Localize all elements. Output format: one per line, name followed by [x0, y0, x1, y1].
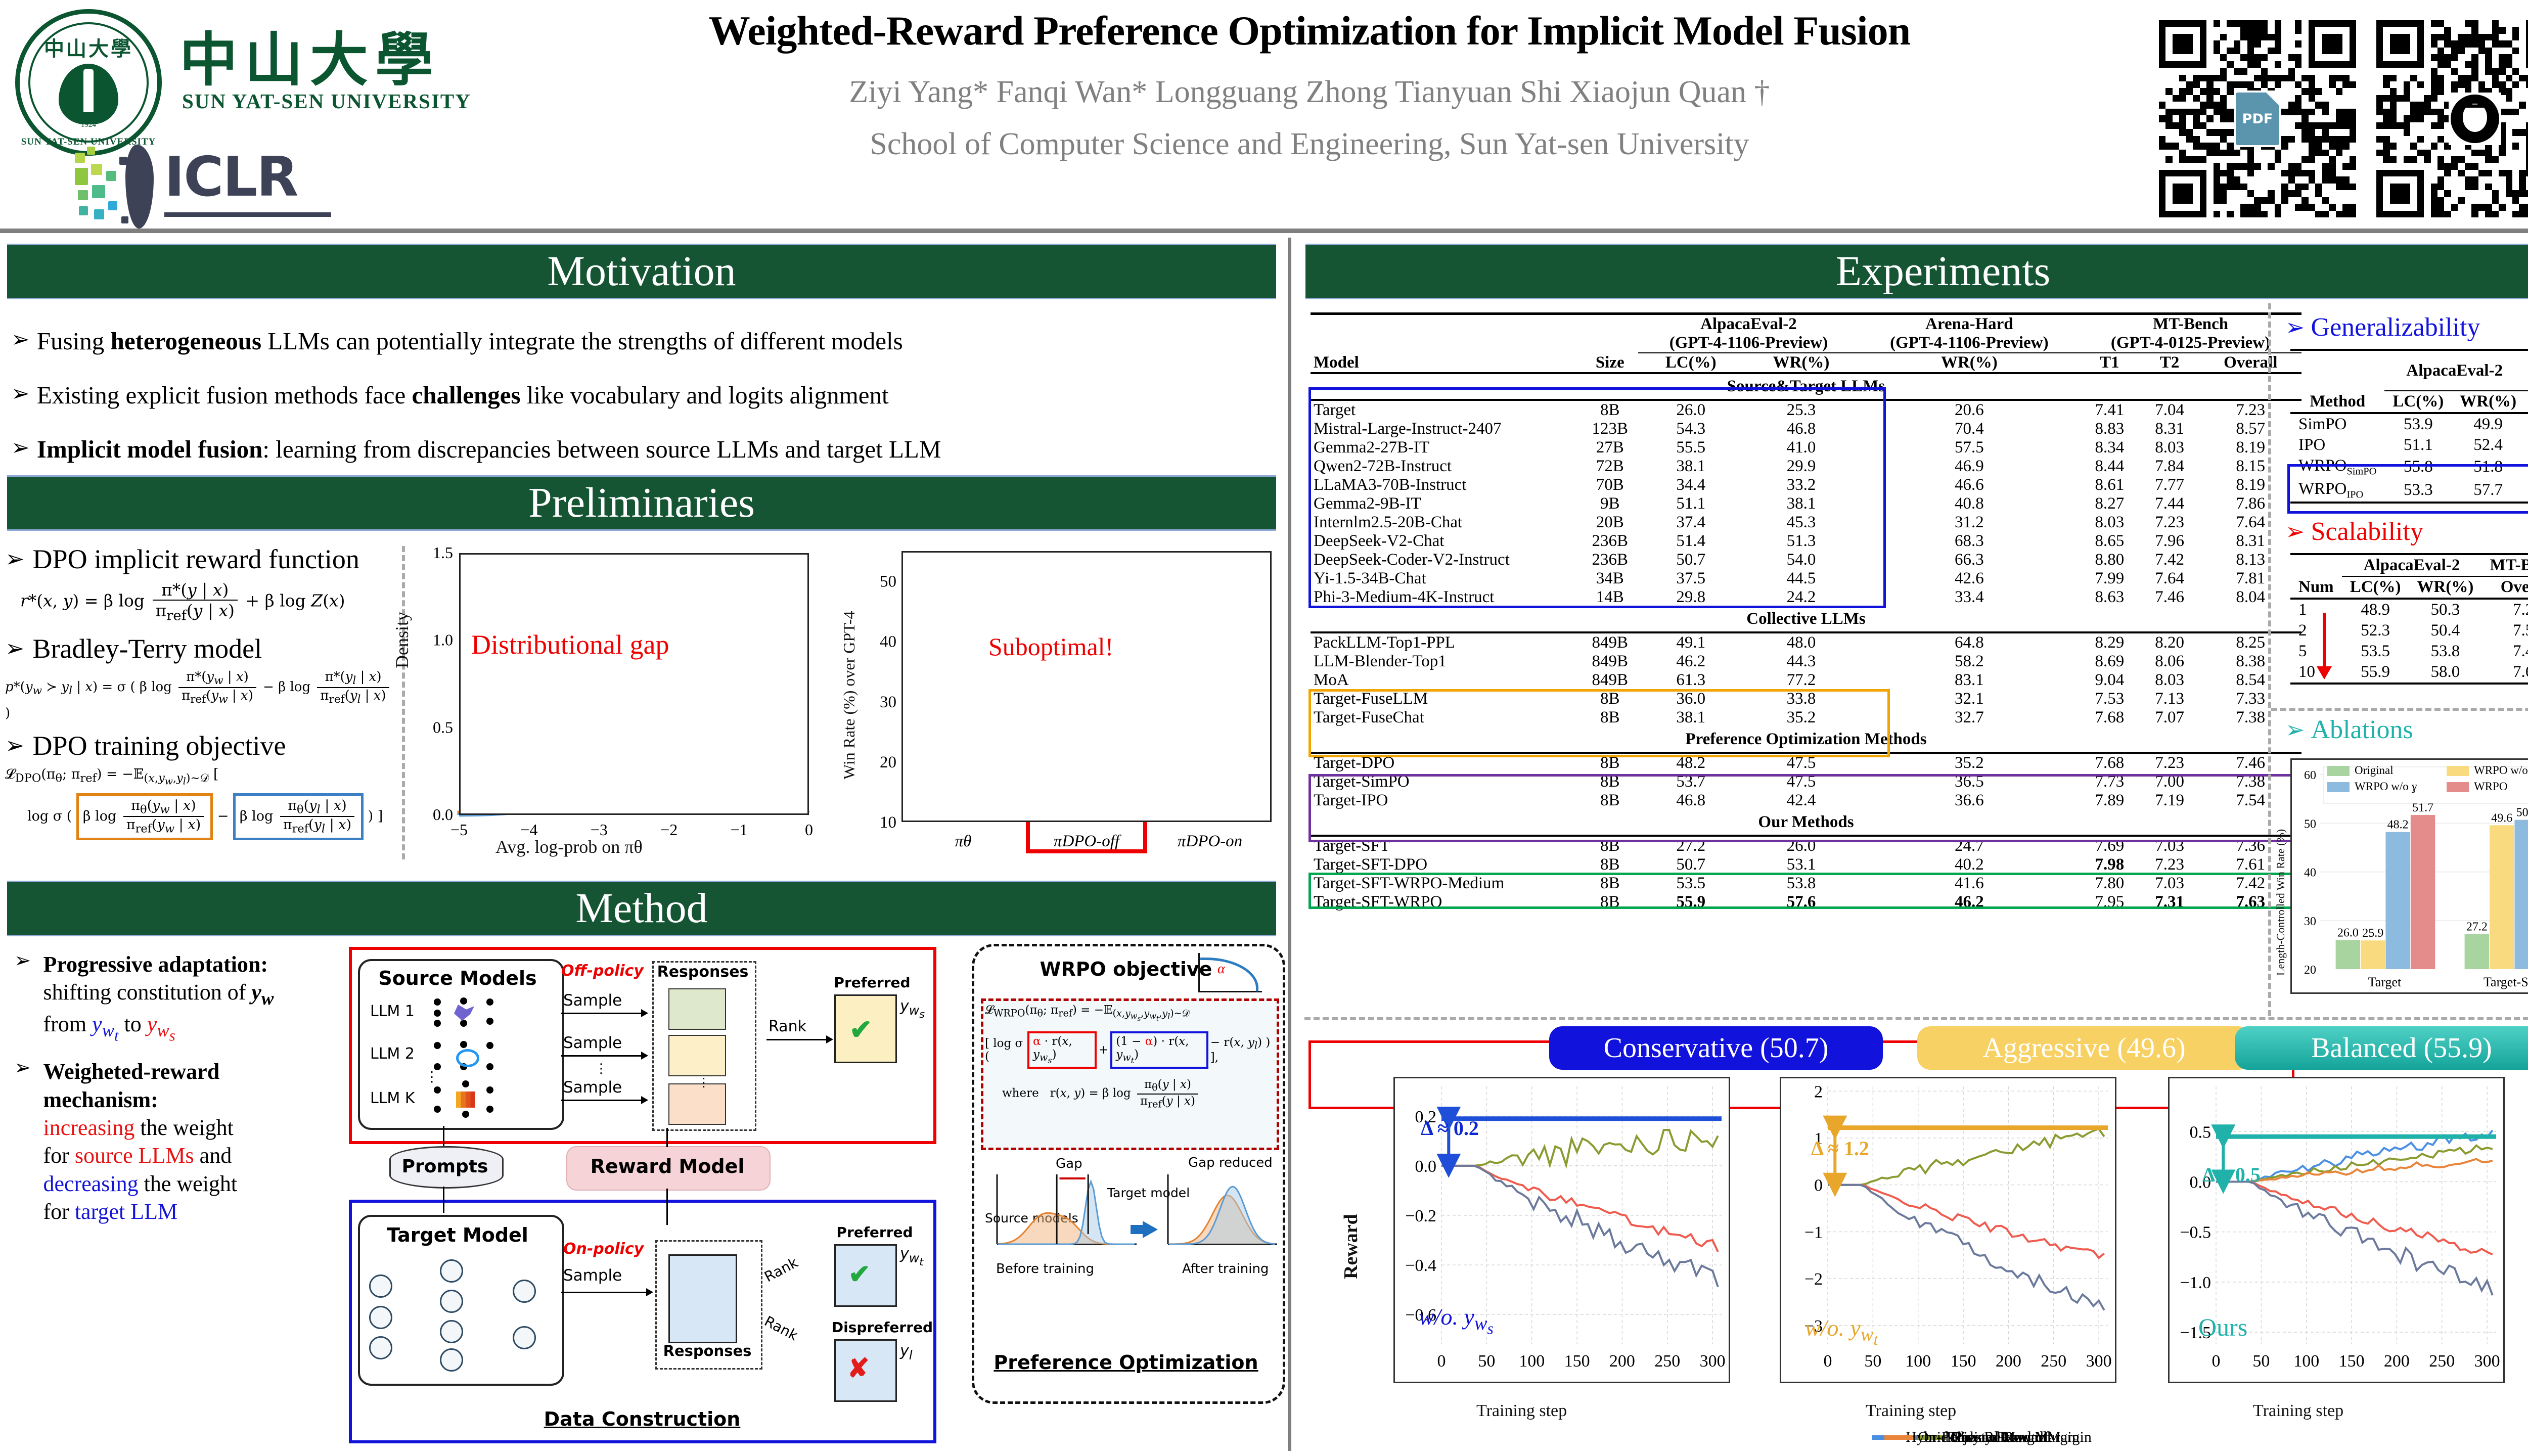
nn-icon-1 — [434, 997, 494, 1027]
table-row: Target-DPO 8B 48.2 47.5 35.2 7.68 7.23 7… — [1311, 753, 2301, 772]
sample-label: Sample — [563, 1034, 622, 1052]
poster-header: 中山大學 1924 SUN YAT-SEN UNIVERSITY 中山大學 SU… — [0, 0, 2528, 243]
svg-text:300: 300 — [1700, 1352, 1726, 1371]
table-row: Target 8B 26.0 25.3 20.6 7.41 7.04 7.23 — [1311, 400, 2301, 420]
table-row: IPO51.152.47.67 — [2290, 435, 2528, 456]
svg-text:250: 250 — [2429, 1352, 2455, 1371]
svg-text:−0.5: −0.5 — [2180, 1223, 2211, 1242]
svg-text:30: 30 — [2304, 915, 2316, 928]
svg-text:1.5: 1.5 — [433, 543, 453, 562]
method-diagram: Source Models LLM 1 LLM 2 LLM K ⋮ — [349, 938, 1284, 1448]
corner-label-2: w/o. ywt — [1805, 1314, 1878, 1349]
wrpo-source-term: α · r(x, yws) — [1027, 1031, 1097, 1069]
svg-text:−2: −2 — [660, 821, 678, 839]
table-row: Target-FuseChat 8B 38.1 35.2 32.7 7.68 7… — [1311, 708, 2301, 727]
table-row: Qwen2-72B-Instruct 72B 38.1 29.9 46.9 8.… — [1311, 457, 2301, 476]
ywt-label: ywt — [900, 1245, 923, 1268]
bullet-arrow-icon: ➢ — [2285, 520, 2305, 543]
rank-label: Rank — [769, 1018, 806, 1035]
sysu-seal-logo: 中山大學 1924 SUN YAT-SEN UNIVERSITY — [15, 9, 162, 156]
subhead-scalability: ➢ Scalability — [2285, 517, 2423, 547]
page-title: Weighted-Reward Preference Optimization … — [506, 9, 2113, 53]
table-group-title: Collective LLMs — [1311, 607, 2301, 632]
svg-text:40: 40 — [880, 633, 896, 651]
table-row: Yi-1.5-34B-Chat 34B 37.5 44.5 42.6 7.99 … — [1311, 569, 2301, 588]
svg-text:100: 100 — [2293, 1352, 2319, 1371]
svg-text:WRPO: WRPO — [2474, 780, 2507, 793]
svg-text:60: 60 — [2304, 769, 2316, 782]
svg-text:150: 150 — [1951, 1352, 1976, 1371]
table-row: Target-SFT 8B 27.2 26.0 24.7 7.69 7.03 7… — [1311, 836, 2301, 855]
svg-text:50.7: 50.7 — [2516, 806, 2528, 820]
iclr-mark-icon — [71, 142, 167, 227]
svg-text:49.6: 49.6 — [2491, 811, 2512, 825]
wrpo-target-term: (1 − α) · r(x, ywt) — [1110, 1031, 1208, 1069]
preferred-label: Preferred — [827, 974, 918, 991]
gap-reduced-label: Gap reduced — [1188, 1155, 1273, 1170]
ellipsis: ⋮ — [425, 1068, 439, 1085]
title-conservative: Conservative (50.7) — [1549, 1026, 1883, 1070]
svg-text:−2: −2 — [1804, 1270, 1823, 1289]
delta-label-2: Δ ≈ 1.2 — [1811, 1136, 1869, 1160]
legend-swatch — [1884, 1435, 1913, 1440]
table-row: Target-SFT-WRPO 8B 55.9 57.6 46.2 7.95 7… — [1311, 893, 2301, 912]
legend-item: On-Policy Reward Margin — [1884, 1429, 2079, 1446]
table-row: Target-IPO 8B 46.8 42.4 36.6 7.89 7.19 7… — [1311, 791, 2301, 810]
reward-model-label: Reward Model — [566, 1155, 769, 1177]
svg-text:2: 2 — [1814, 1082, 1823, 1101]
results-table: Model Size AlpacaEval-2(GPT-4-1106-Previ… — [1311, 312, 2301, 912]
seal-year: 1924 — [15, 121, 162, 129]
experiments-divider — [2268, 303, 2271, 1016]
preference-optimization-label: Preference Optimization — [972, 1351, 1280, 1374]
bullet-arrow-icon: ➢ — [5, 734, 25, 757]
llm1-label: LLM 1 — [370, 1003, 415, 1020]
svg-text:πDPO-on: πDPO-on — [1178, 832, 1242, 850]
table-row: Target-SFT-DPO 8B 50.7 53.1 40.2 7.98 7.… — [1311, 855, 2301, 874]
cross-icon: ✘ — [847, 1353, 870, 1384]
svg-text:10: 10 — [880, 813, 896, 832]
col-arenahard: Arena-Hard(GPT-4-1106-Preview) — [1859, 314, 2080, 353]
col-first: Method — [2290, 350, 2384, 413]
seal-chinese-text: 中山大學 — [15, 32, 162, 62]
table-row: SimPO53.949.97.39 — [2290, 413, 2528, 435]
svg-text:0.5: 0.5 — [433, 718, 453, 736]
table-row: Target-SimPO 8B 53.7 47.5 36.5 7.73 7.00… — [1311, 772, 2301, 791]
svg-text:−1: −1 — [731, 821, 748, 839]
svg-text:250: 250 — [1654, 1352, 1680, 1371]
table-row: Gemma2-9B-IT 9B 51.1 38.1 40.8 8.27 7.44… — [1311, 494, 2301, 513]
table-row: MoA 849B 61.3 77.2 83.1 9.04 8.03 8.54 — [1311, 671, 2301, 690]
chart-ablations-bars: 26.025.948.251.7Target27.249.650.755.9Ta… — [2290, 758, 2528, 994]
nn-icon-2 — [434, 1041, 494, 1070]
qr-code-github[interactable] — [2376, 20, 2528, 217]
svg-text:πDPO-off: πDPO-off — [1054, 832, 1121, 850]
table-group-title: Source&Target LLMs — [1311, 373, 2301, 400]
yl-label: yl — [900, 1342, 913, 1362]
llm2-label: LLM 2 — [370, 1045, 415, 1063]
table-row: Gemma2-27B-IT 27B 55.5 41.0 57.5 8.34 8.… — [1311, 438, 2301, 457]
list-item: ➢ Fusing heterogeneous LLMs can potentia… — [11, 329, 1275, 353]
table-row: WRPOSimPO55.851.87.42 — [2290, 456, 2528, 479]
col-first: Num — [2290, 554, 2342, 599]
prompts-label: Prompts — [389, 1156, 501, 1177]
equation-dpo-objective: 𝓛DPO(πθ; πref) = −𝔼(x,yw,yl)~𝒟 [ log σ (… — [5, 766, 399, 840]
table-row: Phi-3-Medium-4K-Instruct 14B 29.8 24.2 3… — [1311, 588, 2301, 607]
svg-text:−1.0: −1.0 — [2180, 1273, 2211, 1292]
dpo-chosen-term: β log πθ(yw | x)πref(yw | x) — [76, 793, 213, 840]
list-item: ➢ Implicit model fusion: learning from d… — [11, 437, 1275, 462]
subhead-generalizability: ➢ Generalizability — [2285, 312, 2480, 342]
svg-text:1.0: 1.0 — [433, 631, 453, 649]
svg-text:27.2: 27.2 — [2466, 921, 2488, 934]
svg-text:Target: Target — [2368, 975, 2402, 989]
target-model-label: Target Model — [364, 1224, 551, 1246]
svg-text:25.9: 25.9 — [2362, 927, 2383, 940]
svg-text:WRPO w/o y: WRPO w/o y — [2474, 764, 2528, 777]
github-icon — [2449, 93, 2501, 145]
off-policy-label: Off-policy — [561, 962, 644, 980]
table-row: LLaMA3-70B-Instruct 70B 34.4 33.2 46.6 8… — [1311, 476, 2301, 494]
table-row: 252.350.47.54 — [2290, 620, 2528, 641]
section-header-preliminaries: Preliminaries — [7, 475, 1276, 531]
svg-text:150: 150 — [1564, 1352, 1590, 1371]
svg-text:150: 150 — [2339, 1352, 2365, 1371]
svg-text:200: 200 — [1609, 1352, 1635, 1371]
table-row: 553.553.87.42 — [2290, 641, 2528, 662]
table-group-title: Our Methods — [1311, 810, 2301, 836]
svg-text:0: 0 — [805, 821, 813, 839]
list-item: ➢ Progressive adaptation: shifting const… — [14, 950, 333, 1045]
axis-label-y: Length-Controlled Win Rate (%) — [2274, 829, 2287, 976]
axis-label-y: Win Rate (%) over GPT-4 — [840, 611, 859, 780]
axis-label-x: Avg. log-prob on πθ — [495, 836, 643, 857]
svg-text:20: 20 — [880, 753, 896, 771]
bullet-arrow-icon: ➢ — [11, 437, 30, 459]
table-row: LLM-Blender-Top1 849B 46.2 44.3 58.2 8.6… — [1311, 652, 2301, 671]
gap-label: Gap — [1056, 1156, 1082, 1171]
column-divider — [1288, 238, 1291, 1451]
annotation-suboptimal: Suboptimal! — [988, 632, 1113, 661]
pdf-icon: PDF — [2234, 90, 2281, 147]
section-header-motivation: Motivation — [7, 244, 1276, 299]
delta-label-3: Δ ≈ 0.5 — [2202, 1163, 2261, 1187]
author-list: Ziyi Yang* Fanqi Wan* Longguang Zhong Ti… — [506, 75, 2113, 110]
svg-text:300: 300 — [2474, 1352, 2500, 1371]
subhead-ablations: ➢ Ablations — [2285, 715, 2413, 745]
svg-text:50: 50 — [880, 573, 896, 591]
affiliation: School of Computer Science and Engineeri… — [506, 126, 2113, 162]
svg-text:100: 100 — [1519, 1352, 1545, 1371]
col-model: Model — [1311, 314, 1582, 374]
svg-text:0: 0 — [1824, 1352, 1832, 1371]
responses-label: Responses — [655, 1342, 759, 1359]
header-divider — [0, 229, 2528, 233]
col-alpacaeval: AlpacaEval-2(GPT-4-1106-Preview) — [1638, 314, 1859, 353]
svg-text:200: 200 — [2384, 1352, 2410, 1371]
table-row: DeepSeek-V2-Chat 236B 51.4 51.3 68.3 8.6… — [1311, 532, 2301, 551]
iclr-wordmark: ICLR — [164, 146, 297, 209]
svg-text:WRPO w/o y: WRPO w/o y — [2355, 780, 2417, 793]
sample-label: Sample — [563, 1266, 622, 1285]
bullet-arrow-icon: ➢ — [11, 329, 30, 351]
prelim-heading-3: ➢ DPO training objective — [5, 730, 399, 761]
university-name-english: SUN YAT-SEN UNIVERSITY — [182, 89, 471, 113]
axis-label-x-3: Training step — [2253, 1401, 2343, 1421]
before-training-label: Before training — [996, 1261, 1094, 1277]
generalizability-table: Method AlpacaEval-2 MT-BenchLC(%)WR(%)Ov… — [2290, 349, 2528, 504]
alpha-curve-icon: α — [1194, 953, 1265, 998]
table-row: Mistral-Large-Instruct-2407 123B 54.3 46… — [1311, 420, 2301, 438]
data-construction-label: Data Construction — [501, 1408, 784, 1430]
table-row: PackLLM-Top1-PPL 849B 49.1 48.0 64.8 8.2… — [1311, 632, 2301, 652]
poster-root: 中山大學 1924 SUN YAT-SEN UNIVERSITY 中山大學 SU… — [0, 0, 2528, 1456]
svg-text:Target-SFT: Target-SFT — [2484, 975, 2528, 989]
bullet-arrow-icon: ➢ — [14, 1058, 31, 1226]
svg-text:200: 200 — [1996, 1352, 2021, 1371]
scalability-arrow-shaft — [2323, 613, 2326, 667]
axis-label-x-2: Training step — [1866, 1401, 1956, 1421]
source-models-label: Source Models — [364, 967, 551, 989]
corner-label-1: w/o. yws — [1419, 1303, 1494, 1338]
svg-text:48.2: 48.2 — [2387, 818, 2409, 832]
svg-text:100: 100 — [1905, 1352, 1931, 1371]
table-row: DeepSeek-Coder-V2-Instruct 236B 50.7 54.… — [1311, 551, 2301, 569]
svg-text:250: 250 — [2041, 1352, 2066, 1371]
table-row: Target-SFT-WRPO-Medium 8B 53.5 53.8 41.6… — [1311, 874, 2301, 893]
svg-text:Original: Original — [2355, 764, 2394, 777]
table-row: Internlm2.5-20B-Chat 20B 37.4 45.3 31.2 … — [1311, 513, 2301, 532]
delta-label-1: Δ ≈ 0.2 — [1421, 1116, 1479, 1140]
svg-text:20: 20 — [2304, 964, 2316, 977]
equation-wrpo: 𝓛WRPO(πθ; πref) = −𝔼(x,yws,ywt,yl)~𝒟 [ l… — [985, 1004, 1273, 1110]
svg-text:26.0: 26.0 — [2337, 926, 2359, 939]
check-icon: ✔ — [849, 1014, 872, 1045]
svg-text:−1: −1 — [1804, 1223, 1823, 1242]
title-aggressive: Aggressive (49.6) — [1917, 1026, 2251, 1070]
bullet-arrow-icon: ➢ — [11, 383, 30, 405]
svg-text:0.0: 0.0 — [1415, 1157, 1437, 1176]
bullet-arrow-icon: ➢ — [5, 637, 25, 660]
nn-icon-k — [434, 1085, 494, 1115]
motivation-bullets: ➢ Fusing heterogeneous LLMs can potentia… — [11, 329, 1275, 491]
svg-text:300: 300 — [2086, 1352, 2112, 1371]
nn-icon-target — [369, 1259, 541, 1366]
prelim-heading-2: ➢ Bradley-Terry model — [5, 633, 399, 664]
preferred-label: Preferred — [824, 1224, 925, 1241]
svg-text:50: 50 — [1478, 1352, 1495, 1371]
annotation-distributional-gap: Distributional gap — [471, 629, 669, 660]
bullet-arrow-icon: ➢ — [2285, 316, 2305, 339]
svg-text:−0.2: −0.2 — [1405, 1207, 1436, 1225]
responses-label: Responses — [652, 963, 753, 981]
svg-text:50: 50 — [2304, 817, 2316, 831]
after-training-label: After training — [1182, 1261, 1269, 1277]
bullet-arrow-icon: ➢ — [5, 548, 25, 571]
scalability-arrow-head — [2317, 666, 2332, 679]
svg-text:0: 0 — [1437, 1352, 1446, 1371]
equation-dpo-reward: r*(x, y) = β log π*(y | x)πref(y | x) + … — [20, 580, 399, 624]
on-policy-label: On-policy — [563, 1240, 644, 1258]
svg-text:50: 50 — [1864, 1352, 1881, 1371]
qr-code-pdf[interactable]: PDF — [2159, 20, 2356, 217]
ablations-divider — [2271, 708, 2528, 711]
list-item: ➢ Weigheted-reward mechanism: increasing… — [14, 1058, 333, 1226]
svg-text:0.5: 0.5 — [2190, 1123, 2211, 1142]
equation-bradley-terry: p*(yw ≻ yl | x) = σ ( β log π*(yw | x)πr… — [5, 669, 399, 721]
svg-text:40: 40 — [2304, 867, 2316, 880]
svg-text:0: 0 — [1814, 1176, 1823, 1195]
university-name-chinese: 中山大學 — [179, 13, 440, 97]
dpo-rejected-term: β log πθ(yl | x)πref(yl | x) — [233, 793, 364, 840]
dispreferred-label: Dispreferred — [824, 1319, 940, 1336]
scalability-table: Num AlpacaEval-2 MT-BenchLC(%)WR(%)Overa… — [2290, 553, 2528, 685]
llmk-label: LLM K — [370, 1089, 415, 1107]
svg-text:s: s — [2412, 787, 2415, 795]
chart-winrate-bars: 26.025.3πθ25.926.1πDPO-off48.247.5πDPO-o… — [837, 542, 1282, 866]
check-icon: ✔ — [848, 1259, 871, 1290]
table-row: 148.950.37.29 — [2290, 599, 2528, 620]
corner-label-3: Ours — [2198, 1312, 2247, 1342]
iclr-logo: ICLR — [56, 136, 399, 227]
bottom-divider — [1304, 1017, 2528, 1020]
bullet-arrow-icon: ➢ — [2285, 718, 2305, 742]
sample-label: Sample — [563, 1078, 622, 1097]
axis-label-x-1: Training step — [1476, 1401, 1567, 1421]
col-size: Size — [1582, 314, 1638, 374]
prelim-heading-1: ➢ DPO implicit reward function — [5, 543, 399, 575]
table-row: WRPOIPO53.357.77.72 — [2290, 479, 2528, 503]
svg-text:0: 0 — [2212, 1352, 2221, 1371]
svg-text:−0.4: −0.4 — [1405, 1256, 1436, 1275]
axis-label-y: Density — [391, 612, 413, 668]
section-header-method: Method — [7, 881, 1276, 936]
preliminaries-equations: ➢ DPO implicit reward function r*(x, y) … — [5, 543, 399, 847]
svg-text:30: 30 — [880, 693, 896, 711]
svg-text:πθ: πθ — [955, 832, 972, 850]
legend-label: On-Policy Reward Margin — [1918, 1429, 2079, 1446]
title-balanced: Balanced (55.9) — [2235, 1026, 2528, 1070]
svg-text:50: 50 — [2252, 1352, 2270, 1371]
chart-distribution-density: Source LLMsTarget LLM0.00.51.01.5−5−4−3−… — [404, 542, 824, 866]
yws-label: yws — [900, 997, 925, 1020]
sample-label: Sample — [563, 991, 622, 1010]
table-group-title: Preference Optimization Methods — [1311, 727, 2301, 753]
section-header-experiments: Experiments — [1305, 244, 2528, 299]
table-row: Target-FuseLLM 8B 36.0 33.8 32.1 7.53 7.… — [1311, 690, 2301, 708]
svg-text:−5: −5 — [450, 821, 468, 839]
bullet-arrow-icon: ➢ — [14, 950, 31, 1045]
axis-label-reward: Reward — [1340, 1214, 1362, 1279]
method-bullets: ➢ Progressive adaptation: shifting const… — [14, 950, 333, 1226]
list-item: ➢ Existing explicit fusion methods face … — [11, 383, 1275, 407]
